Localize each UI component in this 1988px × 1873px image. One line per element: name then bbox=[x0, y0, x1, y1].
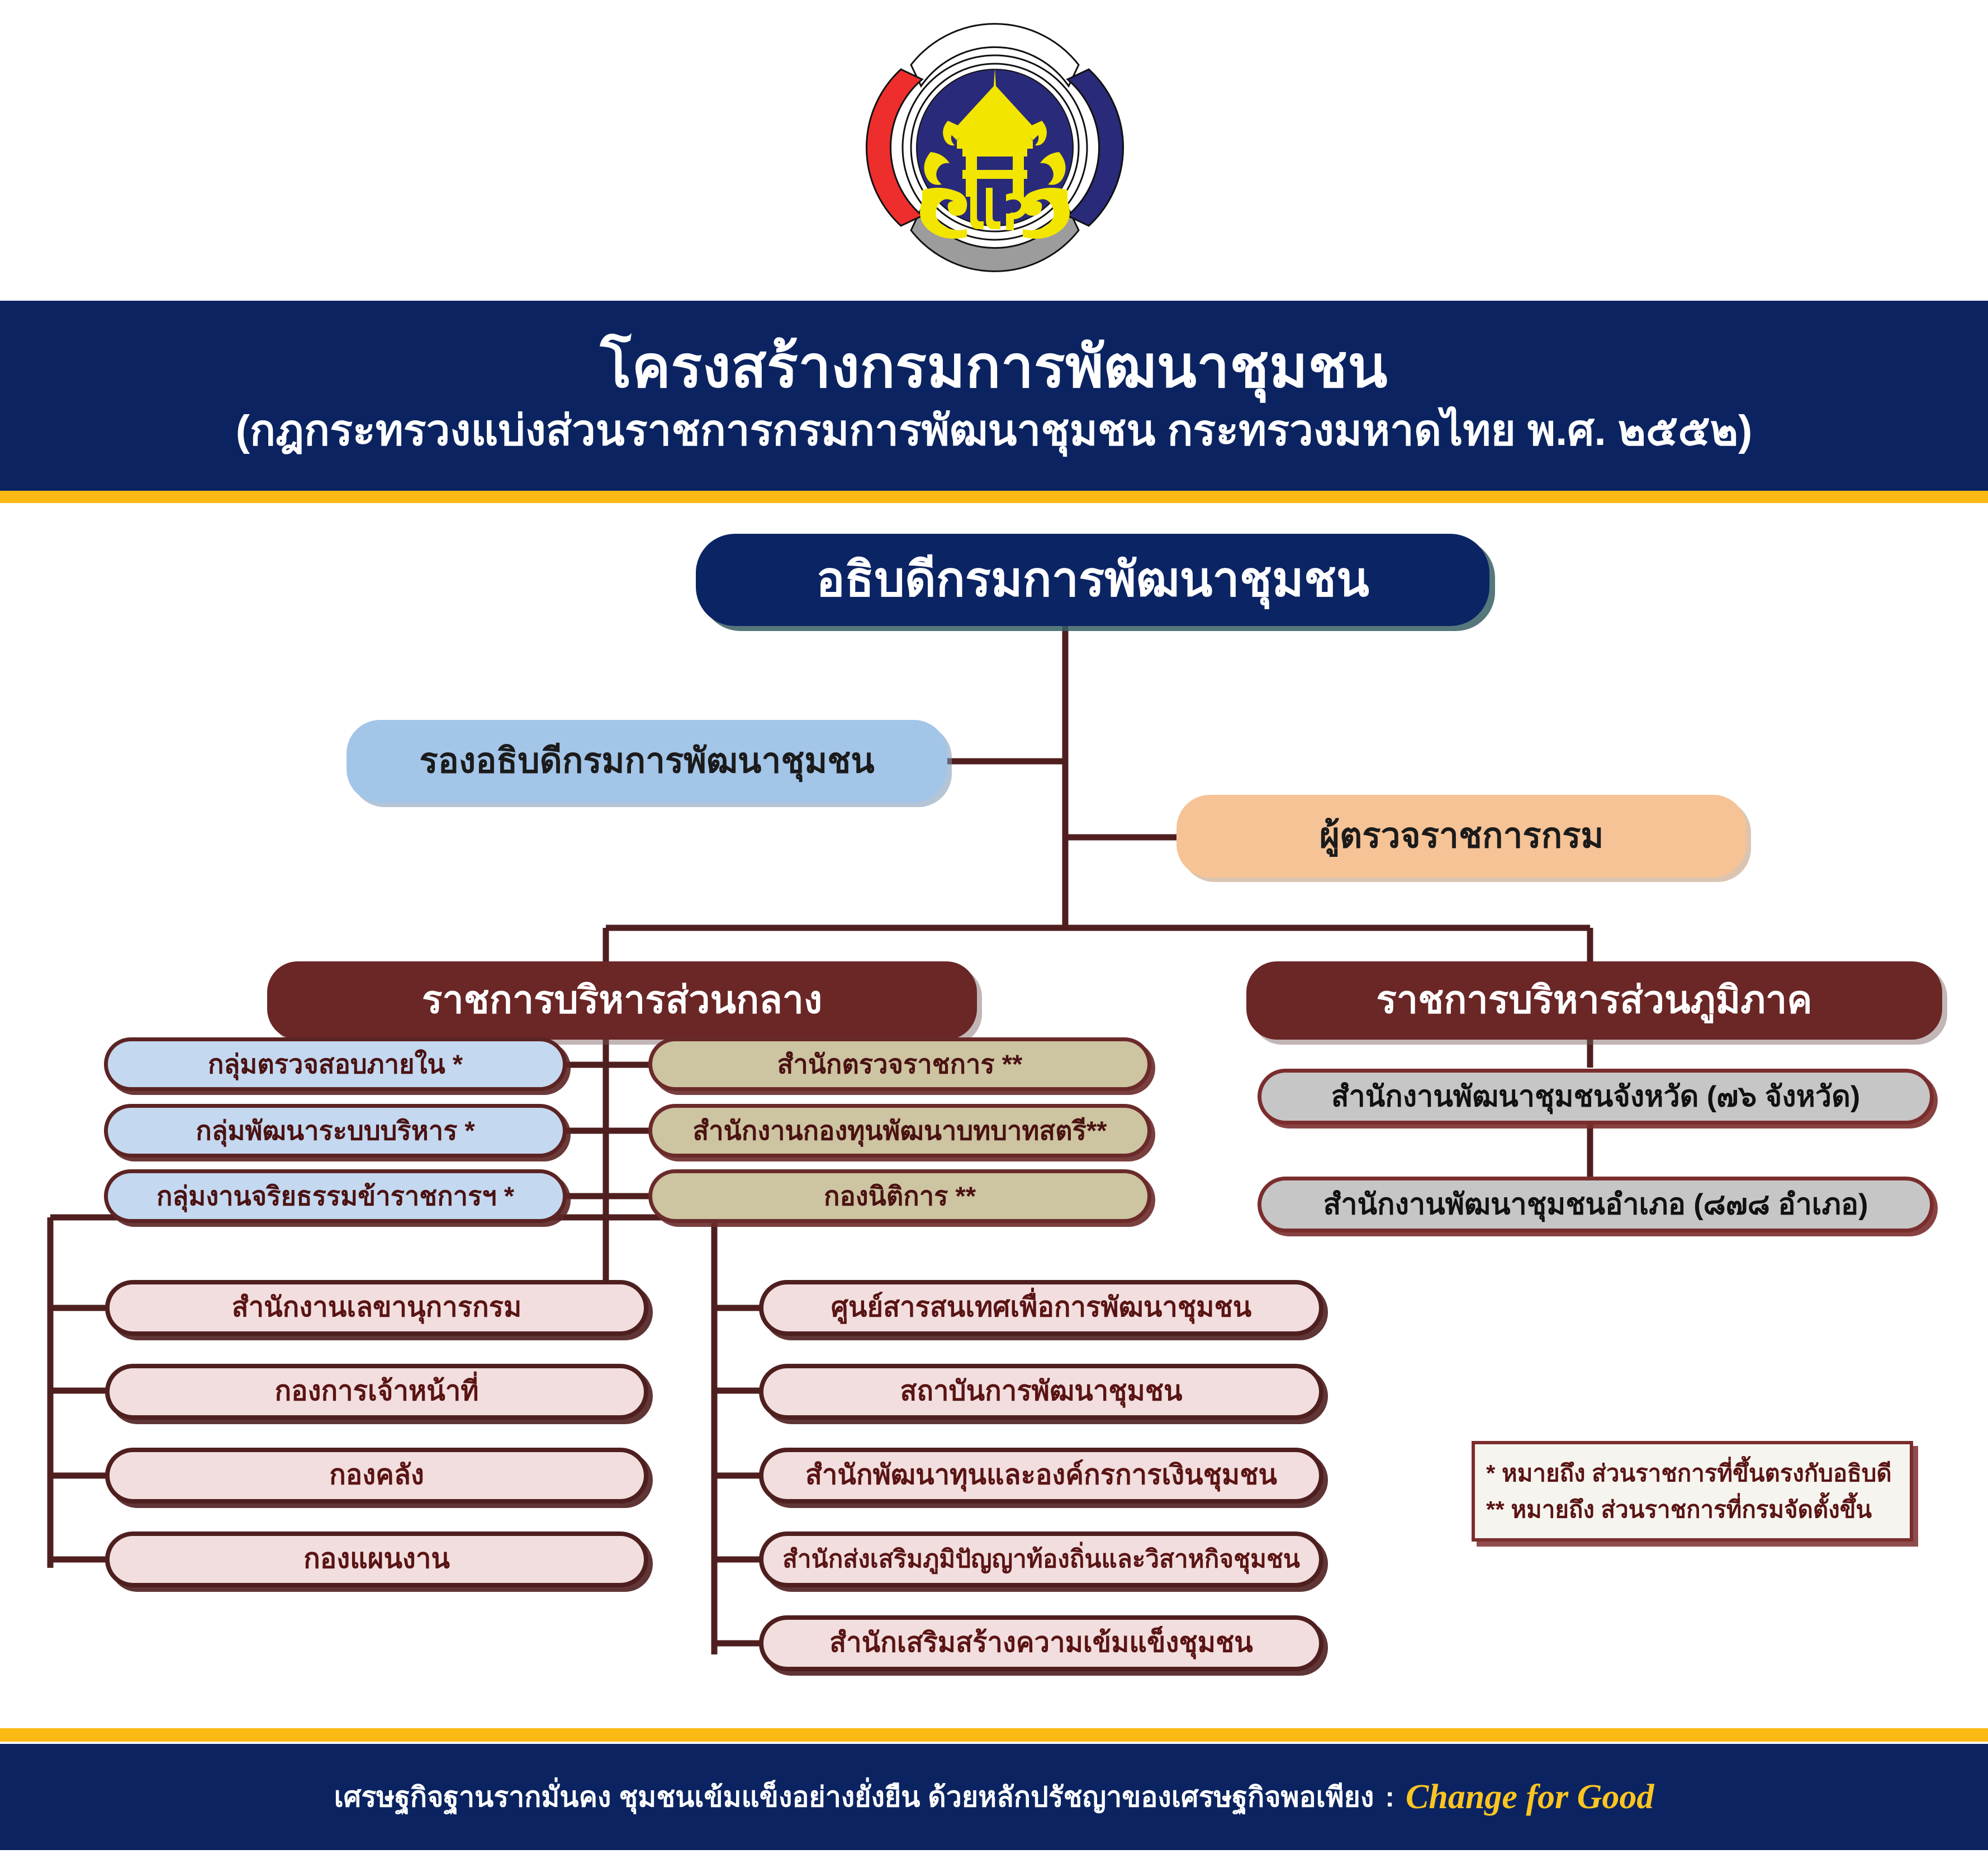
node-label: กองแผนงาน bbox=[303, 1545, 450, 1573]
node-label: กลุ่มพัฒนาระบบบริหาร * bbox=[196, 1117, 475, 1144]
node-label: สำนักงานพัฒนาชุมชนจังหวัด (๗๖ จังหวัด) bbox=[1331, 1082, 1860, 1112]
legend-line-single-asterisk: * หมายถึง ส่วนราชการที่ขึ้นตรงกับอธิบดี bbox=[1486, 1455, 1892, 1491]
org-chart: อธิบดีกรมการพัฒนาชุมชน รองอธิบดีกรมการพั… bbox=[0, 503, 1988, 1727]
node-label: สำนักงานเลขานุการกรม bbox=[232, 1293, 522, 1322]
node-internal-audit-group[interactable]: กลุ่มตรวจสอบภายใน * bbox=[104, 1037, 567, 1091]
node-community-strengthening-bureau[interactable]: สำนักเสริมสร้างความเข้มแข็งชุมชน bbox=[759, 1615, 1323, 1671]
node-department-inspector[interactable]: ผู้ตรวจราชการกรม bbox=[1176, 795, 1747, 878]
node-label: กองนิติการ ** bbox=[824, 1182, 976, 1210]
footer-slogan: Change for Good bbox=[1406, 1777, 1654, 1817]
node-regional-administration[interactable]: ราชการบริหารส่วนภูมิภาค bbox=[1246, 961, 1942, 1040]
node-label: ราชการบริหารส่วนภูมิภาค bbox=[1376, 980, 1812, 1020]
legend-box: * หมายถึง ส่วนราชการที่ขึ้นตรงกับอธิบดี … bbox=[1472, 1441, 1913, 1542]
node-community-development-institute[interactable]: สถาบันการพัฒนาชุมชน bbox=[759, 1364, 1323, 1420]
title-accent-rule bbox=[0, 491, 1988, 503]
footer-motto: เศรษฐกิจฐานรากมั่นคง ชุมชนเข้มแข็งอย่างย… bbox=[334, 1775, 1374, 1819]
node-label: อธิบดีกรมการพัฒนาชุมชน bbox=[816, 554, 1369, 605]
page-footer: เศรษฐกิจฐานรากมั่นคง ชุมชนเข้มแข็งอย่างย… bbox=[0, 1744, 1988, 1850]
node-deputy-director-general[interactable]: รองอธิบดีกรมการพัฒนาชุมชน bbox=[347, 720, 947, 803]
node-label: สำนักพัฒนาทุนและองค์กรการเงินชุมชน bbox=[805, 1461, 1277, 1490]
node-label: สำนักตรวจราชการ ** bbox=[777, 1050, 1023, 1078]
node-planning-division[interactable]: กองแผนงาน bbox=[105, 1531, 648, 1587]
node-central-administration[interactable]: ราชการบริหารส่วนกลาง bbox=[267, 961, 977, 1040]
page-subtitle: (กฎกระทรวงแบ่งส่วนราชการกรมการพัฒนาชุมชน… bbox=[236, 406, 1753, 455]
node-finance-division[interactable]: กองคลัง bbox=[105, 1448, 648, 1504]
node-label: กลุ่มงานจริยธรรมข้าราชการฯ * bbox=[156, 1182, 514, 1210]
legend-line-double-asterisk: ** หมายถึง ส่วนราชการที่กรมจัดตั้งขึ้น bbox=[1486, 1491, 1872, 1528]
node-legal-affairs-division[interactable]: กองนิติการ ** bbox=[648, 1169, 1151, 1223]
node-label: กองการเจ้าหน้าที่ bbox=[274, 1377, 478, 1406]
node-cd-information-center[interactable]: ศูนย์สารสนเทศเพื่อการพัฒนาชุมชน bbox=[759, 1280, 1323, 1336]
node-label: กลุ่มตรวจสอบภายใน * bbox=[208, 1050, 463, 1078]
node-community-capital-finance-bureau[interactable]: สำนักพัฒนาทุนและองค์กรการเงินชุมชน bbox=[759, 1448, 1323, 1504]
node-label: สถาบันการพัฒนาชุมชน bbox=[900, 1377, 1182, 1406]
node-local-wisdom-enterprise-bureau[interactable]: สำนักส่งเสริมภูมิปัญญาท้องถิ่นและวิสาหกิ… bbox=[759, 1531, 1323, 1587]
node-label: ศูนย์สารสนเทศเพื่อการพัฒนาชุมชน bbox=[831, 1293, 1251, 1322]
node-bureau-of-inspection[interactable]: สำนักตรวจราชการ ** bbox=[648, 1037, 1151, 1091]
node-personnel-division[interactable]: กองการเจ้าหน้าที่ bbox=[105, 1364, 648, 1420]
node-label: สำนักเสริมสร้างความเข้มแข็งชุมชน bbox=[829, 1629, 1253, 1657]
node-label: ราชการบริหารส่วนกลาง bbox=[422, 980, 822, 1020]
cdd-emblem-logo bbox=[838, 2, 1151, 293]
node-district-cd-office[interactable]: สำนักงานพัฒนาชุมชนอำเภอ (๘๗๘ อำเภอ) bbox=[1258, 1177, 1934, 1232]
node-label: สำนักงานกองทุนพัฒนาบทบาทสตรี** bbox=[693, 1117, 1107, 1144]
node-office-of-the-secretary[interactable]: สำนักงานเลขานุการกรม bbox=[105, 1280, 648, 1336]
node-label: สำนักงานพัฒนาชุมชนอำเภอ (๘๗๘ อำเภอ) bbox=[1323, 1189, 1868, 1220]
node-label: กองคลัง bbox=[329, 1461, 424, 1490]
node-label: สำนักส่งเสริมภูมิปัญญาท้องถิ่นและวิสาหกิ… bbox=[782, 1547, 1300, 1572]
node-womens-development-fund-office[interactable]: สำนักงานกองทุนพัฒนาบทบาทสตรี** bbox=[648, 1104, 1151, 1158]
node-admin-system-development-group[interactable]: กลุ่มพัฒนาระบบบริหาร * bbox=[104, 1104, 567, 1158]
page-title-banner: โครงสร้างกรมการพัฒนาชุมชน (กฎกระทรวงแบ่ง… bbox=[0, 301, 1988, 491]
node-label: ผู้ตรวจราชการกรม bbox=[1320, 818, 1604, 854]
footer-accent-rule bbox=[0, 1728, 1988, 1742]
footer-separator: : bbox=[1385, 1781, 1394, 1813]
node-civil-service-ethics-group[interactable]: กลุ่มงานจริยธรรมข้าราชการฯ * bbox=[104, 1169, 567, 1223]
node-provincial-cd-office[interactable]: สำนักงานพัฒนาชุมชนจังหวัด (๗๖ จังหวัด) bbox=[1258, 1069, 1934, 1125]
node-label: รองอธิบดีกรมการพัฒนาชุมชน bbox=[419, 743, 874, 779]
page-title: โครงสร้างกรมการพัฒนาชุมชน bbox=[600, 336, 1388, 399]
node-director-general[interactable]: อธิบดีกรมการพัฒนาชุมชน bbox=[696, 534, 1489, 626]
